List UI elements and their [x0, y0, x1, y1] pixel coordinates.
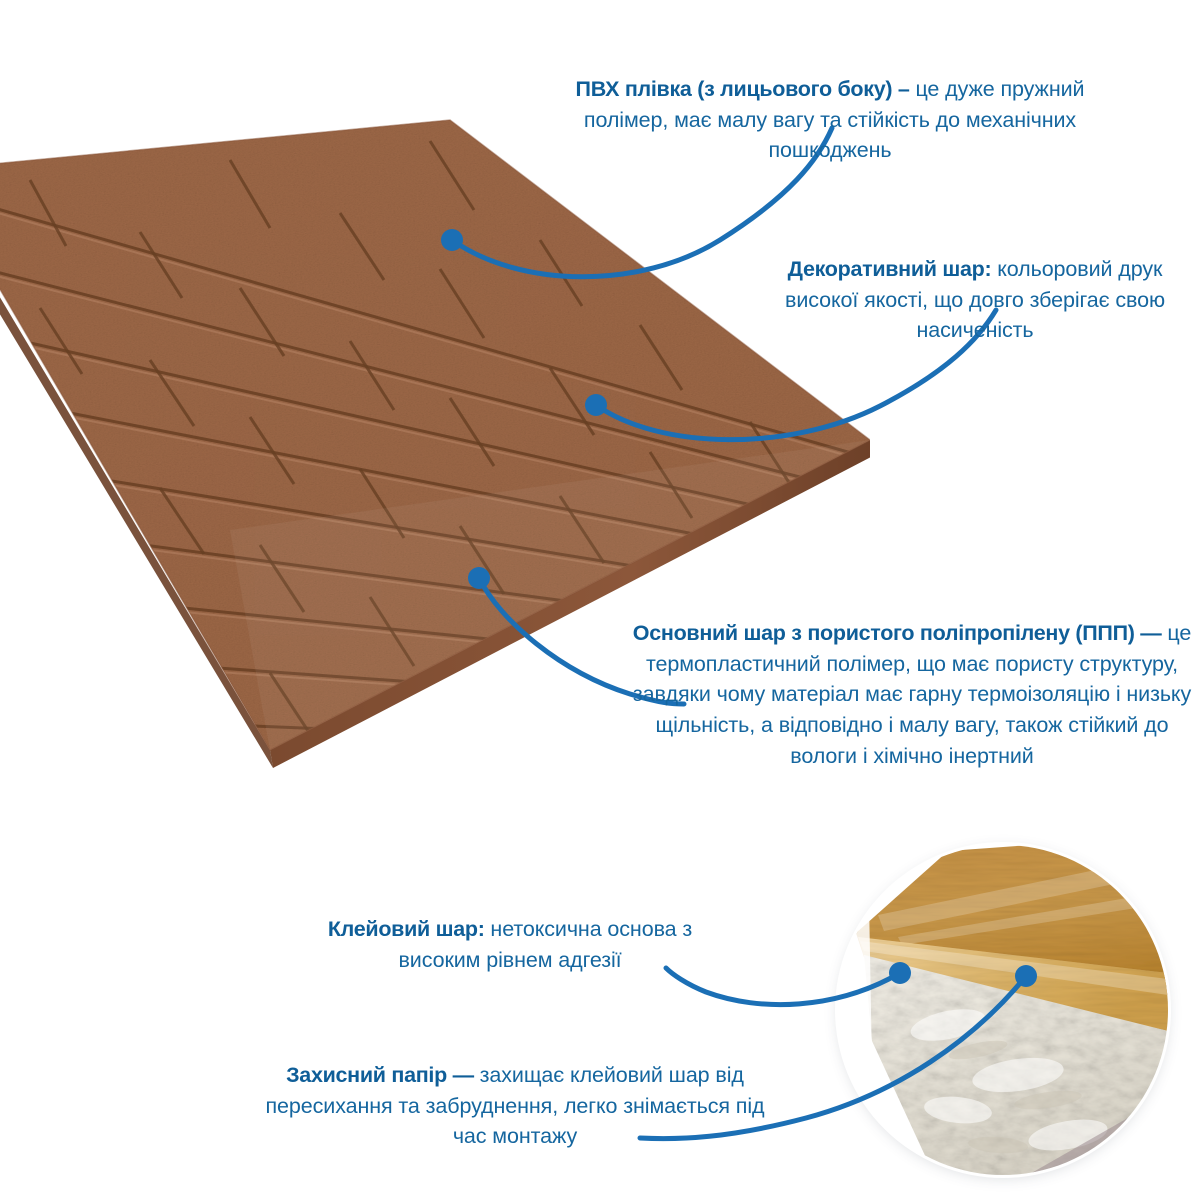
callout-text-pvc-film: ПВХ плівка (з лицьового боку) – це дуже …	[560, 74, 1100, 166]
infographic-page: ПВХ плівка (з лицьового боку) – це дуже …	[0, 0, 1200, 1200]
adhesive-closeup-inset	[838, 845, 1168, 1175]
callout-title-pvc-film: ПВХ плівка (з лицьового боку) –	[576, 77, 910, 101]
callout-text-base-layer: Основний шар з пористого поліпропілену (…	[632, 618, 1192, 772]
callout-text-protective-paper: Захисний папір — захищає клейовий шар ві…	[250, 1060, 780, 1152]
callout-title-adhesive-layer: Клейовий шар:	[328, 917, 485, 941]
callout-text-decorative-layer: Декоративний шар: кольоровий друк високо…	[770, 254, 1180, 346]
callout-title-decorative-layer: Декоративний шар:	[788, 257, 992, 281]
callout-title-base-layer: Основний шар з пористого поліпропілену (…	[633, 621, 1162, 645]
callout-title-protective-paper: Захисний папір —	[286, 1063, 474, 1087]
callout-text-adhesive-layer: Клейовий шар: нетоксична основа з високи…	[300, 914, 720, 975]
